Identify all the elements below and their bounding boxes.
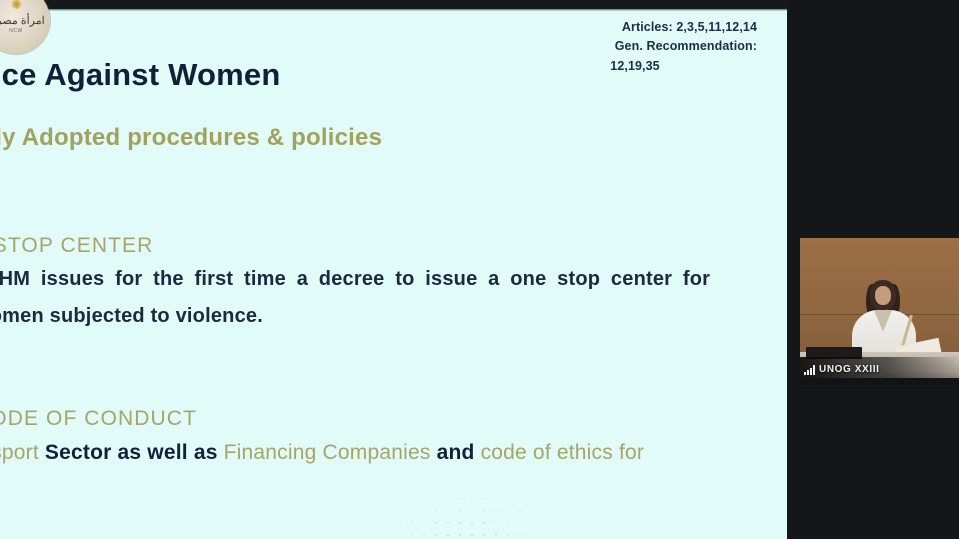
reference-recommendation-values: 12,19,35 [547, 57, 757, 76]
body-run-code-of-ethics-for: code of ethics for [481, 441, 645, 464]
video-bottom-edge [800, 378, 959, 385]
body-run-transport: Transport [0, 441, 45, 464]
speaker-face [875, 286, 891, 305]
organization-logo: ✺ امرأة مصرية NCW [0, 0, 50, 54]
section-body-code-of-conduct: Transport Sector as well as Financing Co… [0, 441, 644, 465]
logo-subtext: NCW [9, 28, 22, 34]
slide-subtitle: Recently Adopted procedures & policies [0, 124, 382, 152]
slide-top-bar-sheen [0, 9, 787, 11]
section-body-one-stop-center-line1: MOHM issues for the first time a decree … [0, 268, 752, 291]
signal-bars-icon [804, 365, 815, 375]
slide-title: Violence Against Women [0, 57, 280, 93]
logo-emblem-icon: ✺ [11, 0, 21, 11]
body-run-and: and [437, 441, 481, 464]
video-participant-name: UNOG XXIII [819, 364, 879, 375]
dot-grid-decoration [334, 481, 594, 539]
slide-top-bar [0, 0, 787, 9]
section-heading-code-of-conduct: CODE OF CONDUCT [0, 407, 197, 431]
reference-recommendation-label: Gen. Recommendation: [547, 37, 757, 56]
section-heading-one-stop-center: ONE STOP CENTER [0, 234, 153, 258]
video-participant-label: UNOG XXIII [804, 364, 879, 375]
shared-slide[interactable]: ✺ امرأة مصرية NCW Articles: 2,3,5,11,12,… [0, 0, 787, 539]
section-body-one-stop-center-line2: women subjected to violence. [0, 305, 263, 328]
body-run-sector-as-well-as: Sector as well as [45, 441, 224, 464]
meeting-stage: ✺ امرأة مصرية NCW Articles: 2,3,5,11,12,… [0, 0, 959, 539]
participant-video-tile[interactable]: UNOG XXIII [800, 238, 959, 385]
reference-articles: Articles: 2,3,5,11,12,14 [547, 18, 757, 37]
logo-arabic-text: امرأة مصرية [0, 14, 45, 27]
article-references: Articles: 2,3,5,11,12,14 Gen. Recommenda… [547, 18, 757, 76]
body-run-financing-companies: Financing Companies [224, 441, 437, 464]
